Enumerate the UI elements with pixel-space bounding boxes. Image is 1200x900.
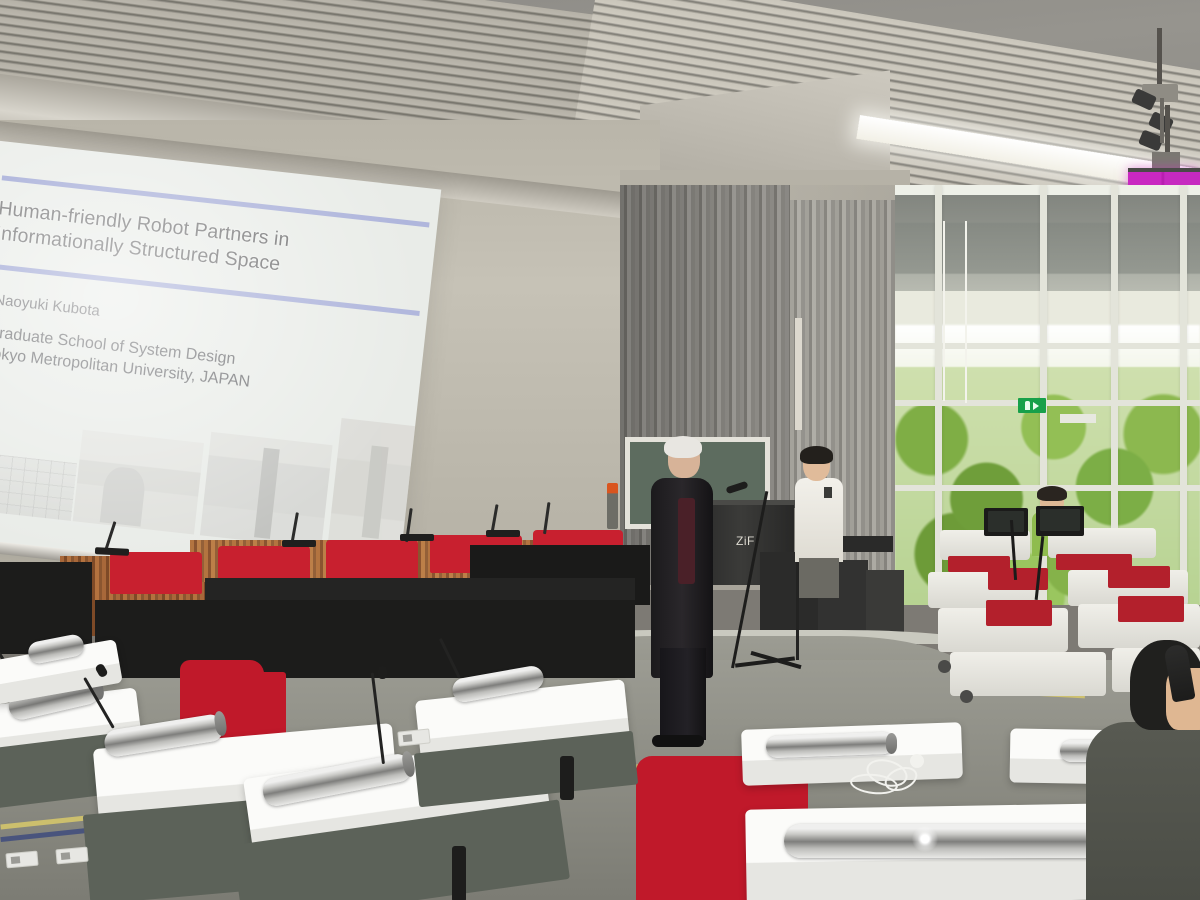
- laptop[interactable]: [1036, 506, 1084, 536]
- dark-barrier-front: [95, 600, 635, 678]
- back-row-chair[interactable]: [110, 552, 202, 594]
- microphone-base-chrome-foreground[interactable]: [784, 824, 1104, 858]
- curtain-pull-rod: [795, 318, 802, 430]
- speaker-shoes: [652, 735, 704, 747]
- blind-cord[interactable]: [965, 221, 967, 403]
- projection-screen: Human-friendly Robot Partners in Informa…: [0, 140, 441, 595]
- microphone-base-chrome[interactable]: [766, 732, 895, 758]
- exit-sign: [1018, 398, 1046, 413]
- slide-photo: [200, 432, 333, 549]
- assistant-hair: [800, 446, 833, 464]
- speaker-shirt: [678, 498, 695, 584]
- tier-chair[interactable]: [986, 600, 1052, 626]
- specular-highlight: [912, 826, 938, 852]
- door-sign-plate: [1060, 414, 1096, 423]
- desk-caster: [960, 690, 973, 703]
- podium-label: ZiF: [736, 534, 755, 548]
- window-transom: [895, 400, 1200, 406]
- fire-extinguisher: [607, 483, 618, 529]
- laptop[interactable]: [984, 508, 1028, 536]
- back-row-mic-base: [400, 534, 434, 541]
- desk-leg: [452, 846, 466, 900]
- slide-title: Human-friendly Robot Partners in Informa…: [0, 196, 417, 292]
- window-transom: [895, 343, 1200, 349]
- tier-desk: [950, 652, 1106, 696]
- speaker-hair: [664, 436, 702, 458]
- window-mullion: [1180, 185, 1187, 605]
- spotlight-arm: [1160, 98, 1164, 143]
- presentation-slide: Human-friendly Robot Partners in Informa…: [0, 140, 441, 595]
- microphone-capsule: [378, 666, 387, 679]
- desk-leg: [560, 756, 574, 800]
- desk-caster: [938, 660, 951, 673]
- foreground-participant-shoulder: [1086, 722, 1200, 900]
- assistant-trousers: [799, 558, 839, 598]
- slide-photo: [73, 430, 204, 535]
- slide-photo-strip: [0, 416, 411, 557]
- running-man-icon: [1025, 401, 1030, 410]
- back-row-mic-base: [282, 540, 316, 547]
- desk-power-socket[interactable]: [5, 851, 38, 869]
- assistant-badge: [824, 487, 832, 498]
- back-row-mic-base: [486, 530, 520, 537]
- back-row-chair[interactable]: [326, 540, 418, 580]
- blind-cord[interactable]: [943, 221, 945, 401]
- exit-arrow-icon: [1033, 402, 1039, 410]
- cable-connector: [910, 754, 924, 768]
- lecture-hall-scene: Human-friendly Robot Partners in Informa…: [0, 0, 1200, 900]
- tier-chair[interactable]: [1108, 566, 1170, 588]
- participant-hair: [1037, 486, 1067, 501]
- microphone-base-cap: [886, 733, 897, 754]
- speaker-legs: [660, 648, 706, 740]
- assistant-shirt: [795, 478, 843, 562]
- tier-chair[interactable]: [1118, 596, 1184, 622]
- spotlight-rail: [1157, 28, 1162, 90]
- slide-photo: [0, 449, 77, 521]
- desk-power-socket[interactable]: [55, 847, 88, 865]
